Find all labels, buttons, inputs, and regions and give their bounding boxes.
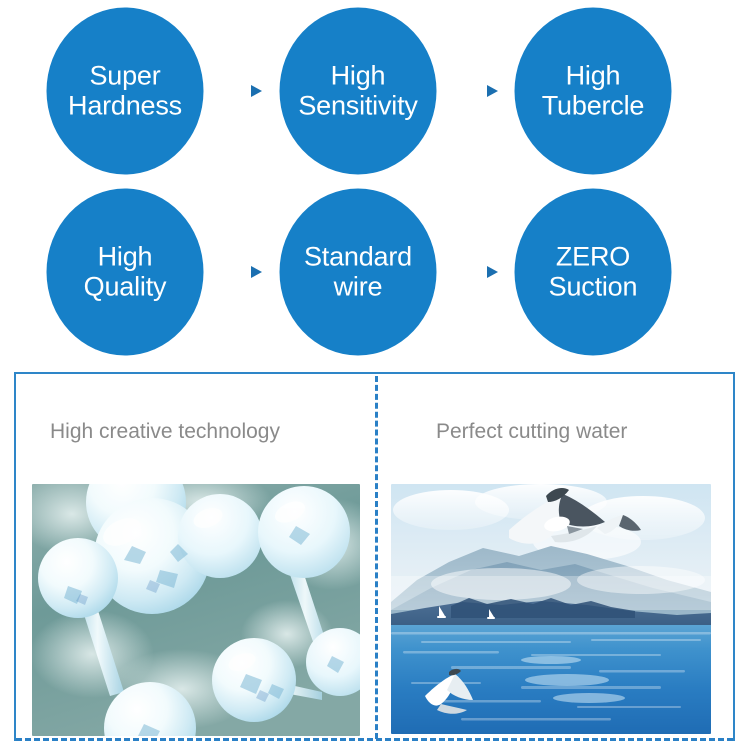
- feature-label-line2: Hardness: [68, 91, 182, 121]
- feature-label: Super Hardness: [68, 60, 182, 120]
- feature-label-line1: Standard: [304, 241, 412, 271]
- feature-item-high-sensitivity[interactable]: High Sensitivity: [233, 0, 483, 181]
- feature-row-1: Super Hardness High Sensitivity: [0, 0, 750, 181]
- feature-row-2: High Quality Standard wire: [0, 181, 750, 362]
- feature-circle: Super Hardness: [47, 7, 204, 174]
- feature-item-high-tubercle[interactable]: High Tubercle: [468, 0, 718, 181]
- feature-circles-section: Super Hardness High Sensitivity: [0, 0, 750, 362]
- feature-item-zero-suction[interactable]: ZERO Suction: [468, 181, 718, 362]
- feature-label-line2: Suction: [549, 272, 638, 302]
- feature-label: High Quality: [84, 241, 167, 301]
- feature-label-line1: High: [566, 60, 621, 90]
- feature-circle: Standard wire: [280, 188, 437, 355]
- feature-label: Standard wire: [304, 241, 412, 301]
- showcase-pane-left: High creative technology: [16, 374, 375, 741]
- feature-label: ZERO Suction: [549, 241, 638, 301]
- feature-label: High Sensitivity: [298, 60, 417, 120]
- feature-circle: High Quality: [47, 188, 204, 355]
- feature-label: High Tubercle: [542, 60, 644, 120]
- feature-item-high-quality[interactable]: High Quality: [0, 181, 250, 362]
- feature-circle: ZERO Suction: [515, 188, 672, 355]
- feature-item-super-hardness[interactable]: Super Hardness: [0, 0, 250, 181]
- ice-molecule-crystals-photo: [32, 484, 360, 736]
- feature-label-line1: High: [331, 60, 386, 90]
- pane-caption: Perfect cutting water: [436, 420, 627, 444]
- pane-caption: High creative technology: [50, 420, 280, 444]
- showcase-panel: High creative technology: [14, 372, 735, 741]
- seagulls-over-lake-photo: [391, 484, 711, 734]
- showcase-pane-right: Perfect cutting water: [378, 374, 733, 741]
- feature-circle: High Sensitivity: [280, 7, 437, 174]
- feature-label-line1: ZERO: [556, 241, 630, 271]
- feature-label-line1: Super: [89, 60, 160, 90]
- feature-circle: High Tubercle: [515, 7, 672, 174]
- feature-label-line2: Sensitivity: [298, 91, 417, 121]
- feature-label-line2: wire: [304, 272, 412, 302]
- feature-label-line2: Quality: [84, 272, 167, 302]
- feature-item-standard-wire[interactable]: Standard wire: [233, 181, 483, 362]
- feature-label-line2: Tubercle: [542, 91, 644, 121]
- feature-label-line1: High: [98, 241, 153, 271]
